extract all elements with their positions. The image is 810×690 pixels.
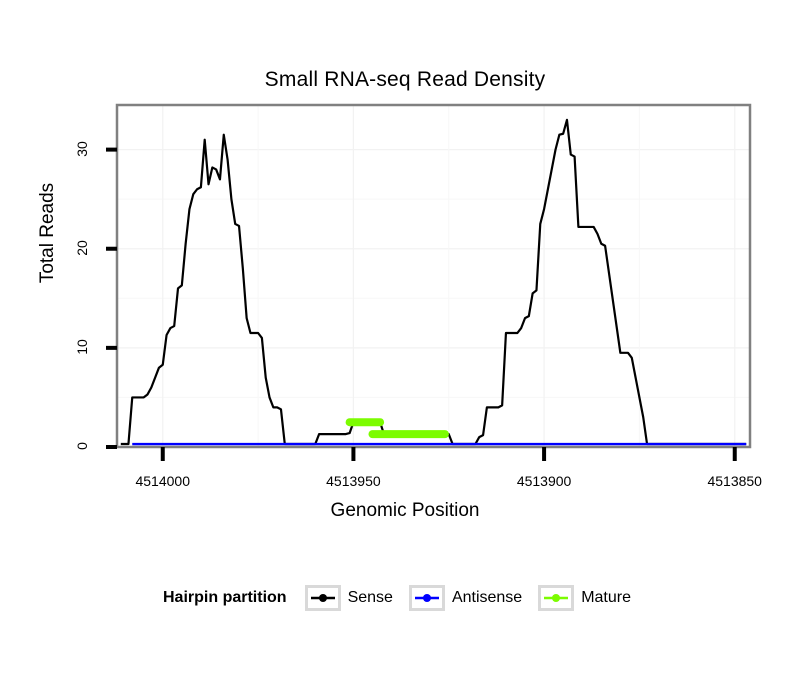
legend-label: Sense <box>348 589 393 607</box>
y-tick-label: 10 <box>74 327 90 367</box>
legend-key-icon <box>409 585 445 611</box>
legend-item-mature[interactable]: Mature <box>538 585 631 611</box>
y-tick-label: 30 <box>74 129 90 169</box>
y-tick-label: 20 <box>74 228 90 268</box>
legend-item-antisense[interactable]: Antisense <box>409 585 522 611</box>
legend-title: Hairpin partition <box>163 589 287 607</box>
legend-label: Mature <box>581 589 631 607</box>
legend: Hairpin partition SenseAntisenseMature <box>0 585 810 611</box>
chart-root: Small RNA-seq Read Density Total Reads G… <box>0 0 810 690</box>
legend-key-icon <box>538 585 574 611</box>
x-tick-label: 4514000 <box>118 473 208 489</box>
legend-entries: SenseAntisenseMature <box>305 585 647 611</box>
x-tick-label: 4513850 <box>690 473 780 489</box>
legend-label: Antisense <box>452 589 522 607</box>
legend-item-sense[interactable]: Sense <box>305 585 393 611</box>
x-tick-label: 4513900 <box>499 473 589 489</box>
y-tick-label: 0 <box>74 426 90 466</box>
x-tick-label: 4513950 <box>308 473 398 489</box>
legend-key-icon <box>305 585 341 611</box>
